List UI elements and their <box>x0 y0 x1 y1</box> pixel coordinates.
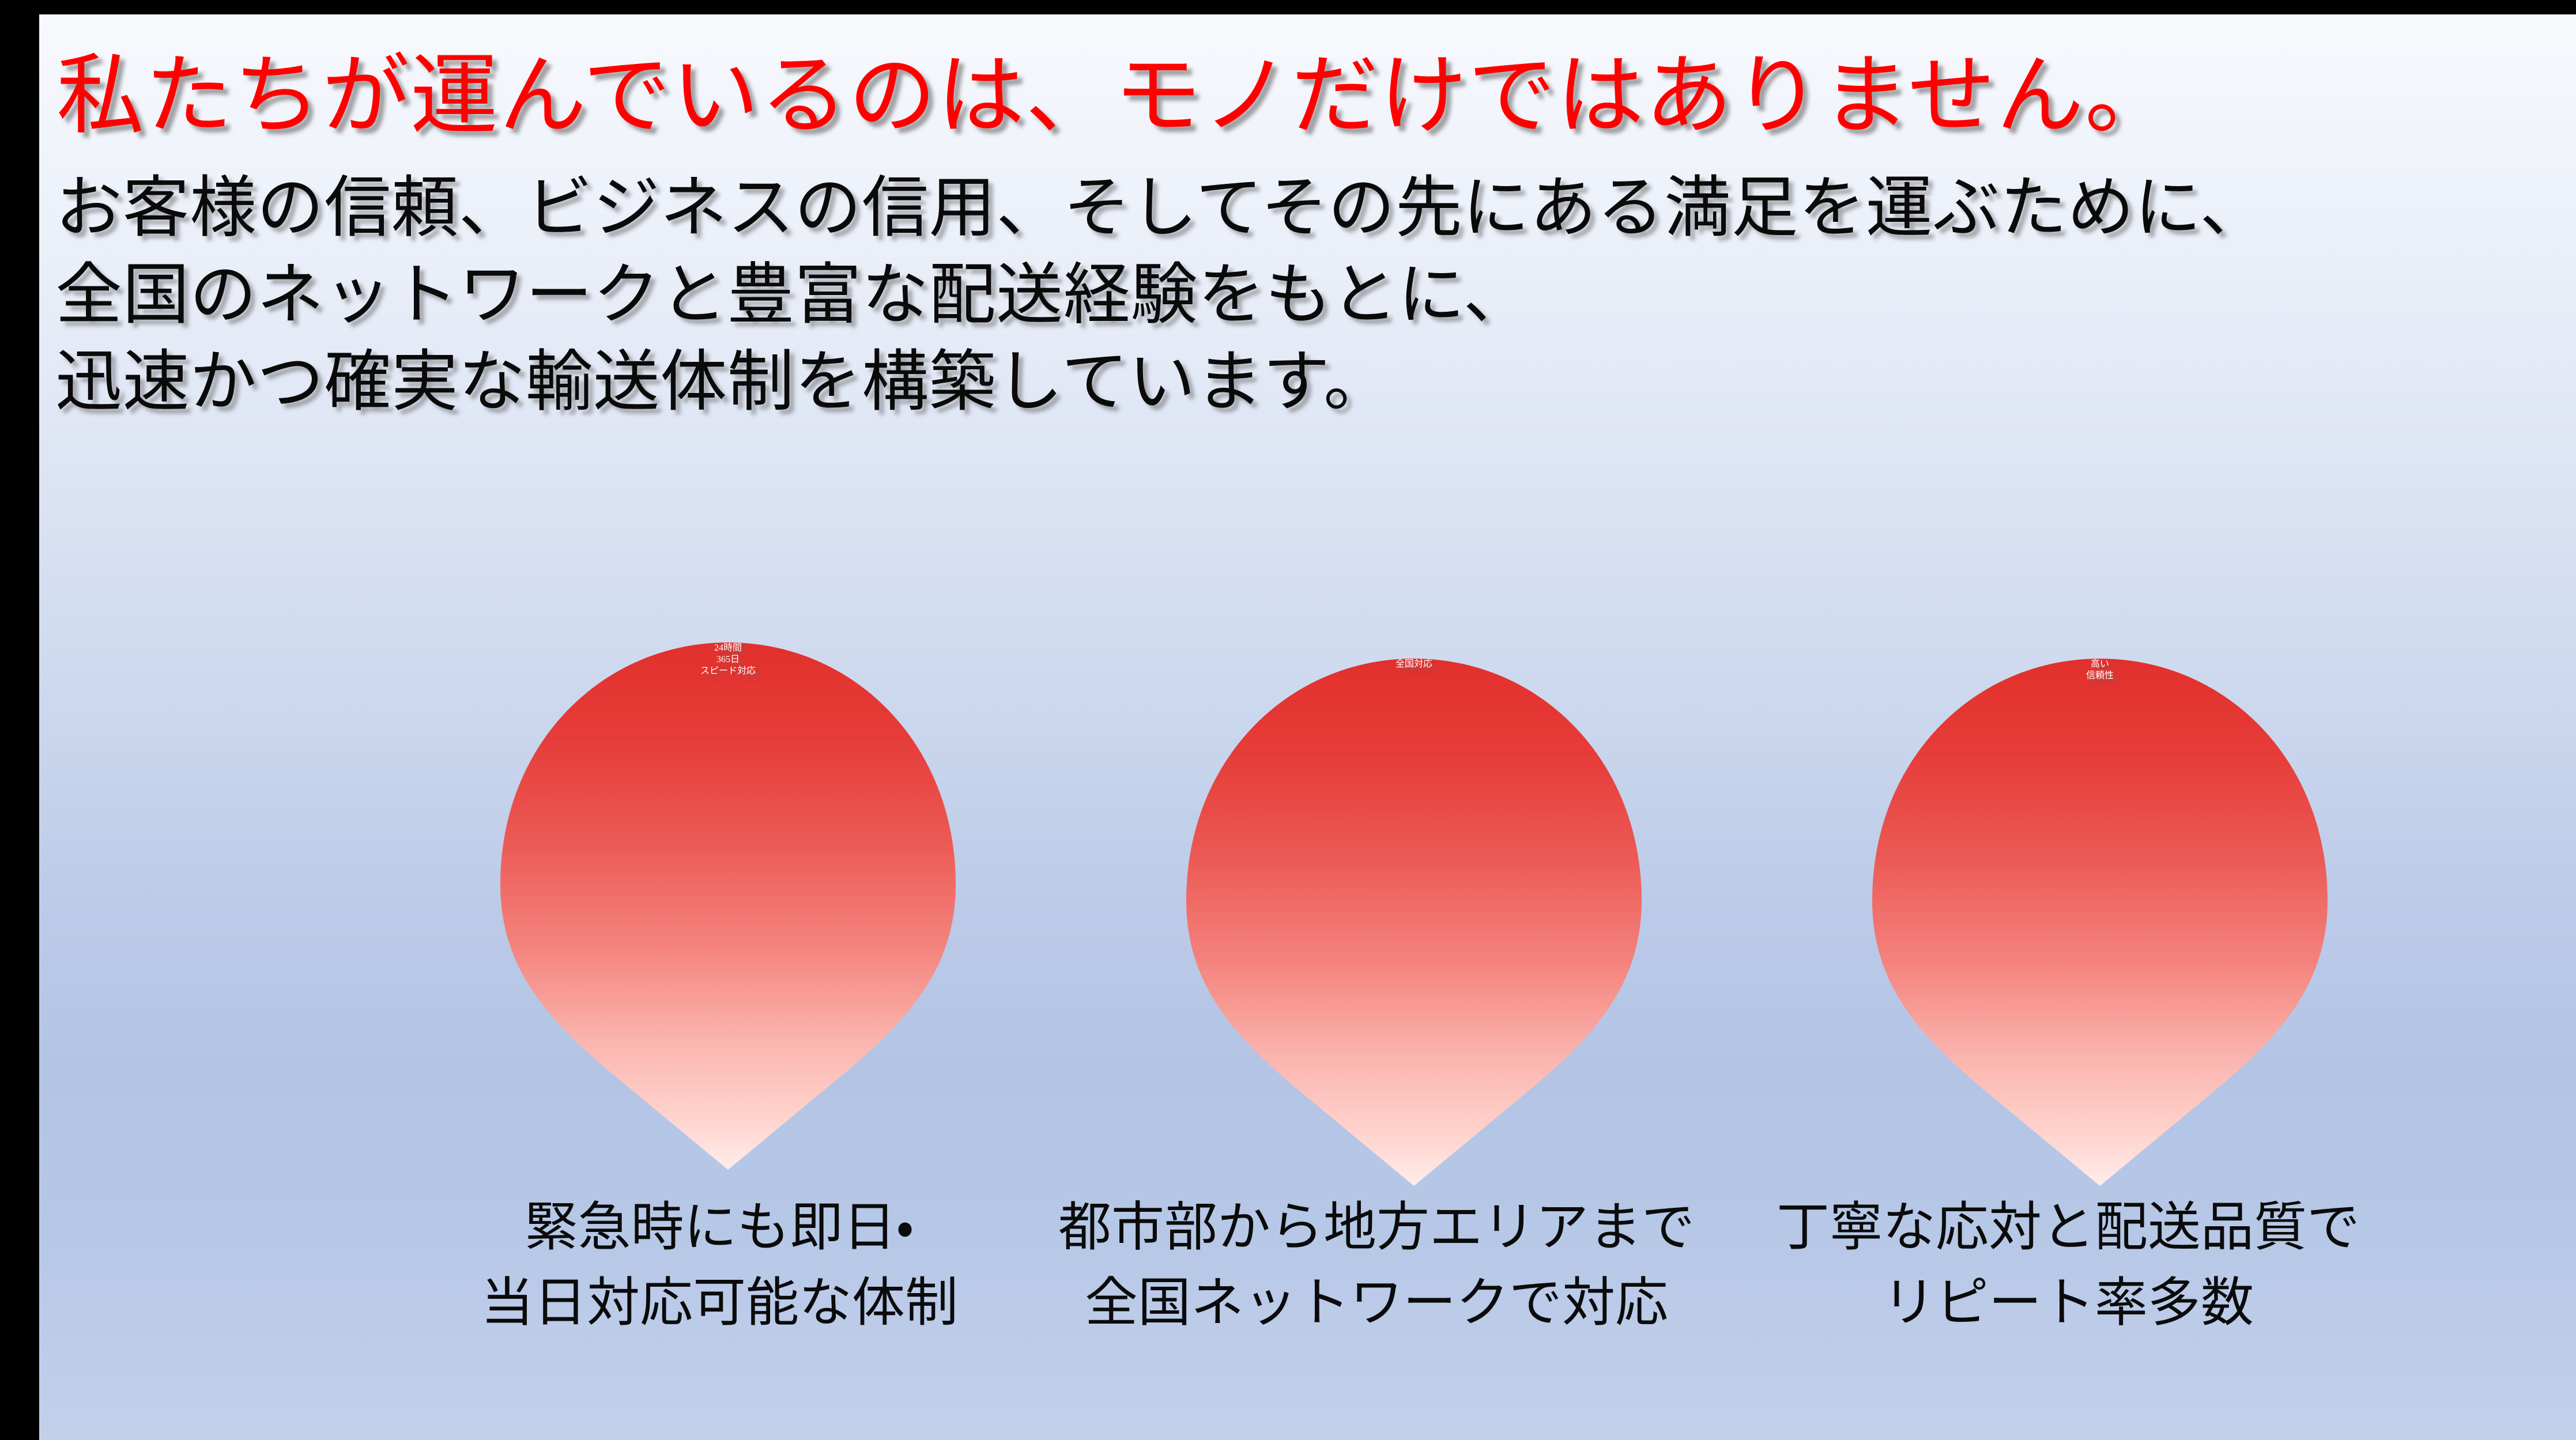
map-pin-icon <box>1872 659 2328 1186</box>
pin-card-nationwide: 全国対応 <box>1186 659 1642 1186</box>
pin-card-24h: 24時間 365日 スピード対応 <box>500 642 956 1170</box>
pin-caption-reliability: 丁寧な応対と配送品質で リピート率多数 <box>1745 1190 2391 1340</box>
page-title: 私たちが運んでいるのは、モノだけではありません。 <box>56 49 2535 143</box>
caption-line: 全国ネットワークで対応 <box>1054 1265 1699 1341</box>
lead-line-2: 全国のネットワークと豊富な配送経験をもとに、 <box>55 252 2557 339</box>
caption-line: 緊急時にも即日・ <box>431 1190 1008 1265</box>
map-pin-icon <box>500 642 956 1170</box>
map-pin-icon <box>1186 659 1642 1186</box>
lead-line-1: お客様の信頼、ビジネスの信用、そしてその先にある満足を運ぶために、 <box>55 165 2557 252</box>
pin-card-reliability: 高い 信頼性 <box>1872 659 2328 1186</box>
lead-paragraph: お客様の信頼、ビジネスの信用、そしてその先にある満足を運ぶために、 全国のネット… <box>55 165 2557 426</box>
lead-line-3: 迅速かつ確実な輸送体制を構築しています。 <box>55 339 2557 426</box>
caption-line: 丁寧な応対と配送品質で <box>1745 1190 2391 1265</box>
caption-line: リピート率多数 <box>1745 1265 2391 1341</box>
pin-caption-24h: 緊急時にも即日・ 当日対応可能な体制 <box>431 1190 1008 1340</box>
caption-line: 都市部から地方エリアまで <box>1054 1190 1699 1265</box>
slide-root: 私たちが運んでいるのは、モノだけではありません。 お客様の信頼、ビジネスの信用、… <box>0 0 2576 1440</box>
slide-canvas: 私たちが運んでいるのは、モノだけではありません。 お客様の信頼、ビジネスの信用、… <box>39 14 2576 1440</box>
caption-line: 当日対応可能な体制 <box>431 1265 1008 1341</box>
pin-caption-nationwide: 都市部から地方エリアまで 全国ネットワークで対応 <box>1054 1190 1699 1340</box>
